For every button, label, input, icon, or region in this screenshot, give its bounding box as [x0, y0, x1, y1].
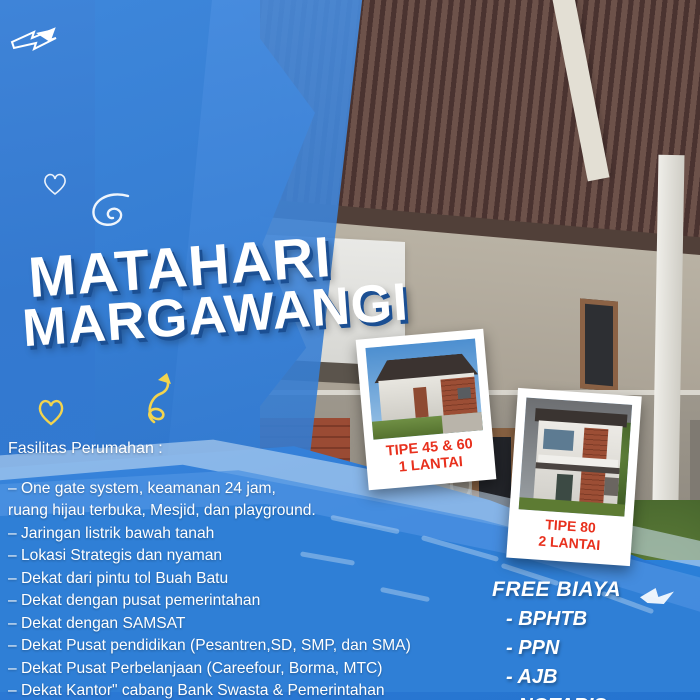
facility-item: – Dekat Pusat Perbelanjaan (Careefour, B… — [8, 658, 488, 680]
facilities-list: – One gate system, keamanan 24 jam, ruan… — [8, 478, 488, 700]
photo-caption: TIPE 45 & 60 1 LANTAI — [373, 430, 487, 485]
thumb-window-upper — [543, 429, 574, 451]
thumb-window — [457, 387, 471, 399]
heart-icon-yellow — [36, 398, 66, 426]
facility-item: – Dekat Kantor" cabang Bank Swasta & Pem… — [8, 680, 488, 700]
heart-icon-white — [42, 172, 68, 196]
free-costs-title: FREE BIAYA — [492, 578, 621, 602]
flyer-canvas: MATAHARI MARGAWANGI Fasilitas Perumahan … — [0, 0, 700, 700]
facility-item: – Jaringan listrik bawah tanah — [8, 523, 488, 545]
curly-arrow-icon — [140, 372, 180, 424]
photo-caption: TIPE 80 2 LANTAI — [515, 509, 624, 561]
flyer-title: MATAHARI MARGAWANGI — [22, 236, 462, 340]
upper-window — [580, 298, 618, 391]
thumb-door — [413, 387, 429, 418]
house-thumbnail-single-storey — [365, 338, 483, 439]
spiral-swirl-icon — [88, 192, 132, 230]
facility-item: – Dekat dengan pusat pemerintahan — [8, 590, 488, 612]
facility-item: – Dekat dengan SAMSAT — [8, 613, 488, 635]
facility-item: – Dekat Pusat pendidikan (Pesantren,SD, … — [8, 635, 488, 657]
house-thumbnail-two-storey — [519, 397, 633, 516]
facility-item: – Lokasi Strategis dan nyaman — [8, 545, 488, 567]
thumb-window-lower — [604, 477, 619, 496]
free-costs-section: FREE BIAYA - BPHTB - PPN - AJB - NOTARIS — [492, 578, 621, 700]
free-costs-list: - BPHTB - PPN - AJB - NOTARIS — [492, 608, 621, 700]
free-cost-item: - PPN — [492, 637, 621, 660]
arrow-right-icon — [10, 26, 58, 52]
photo-card-tipe-80: TIPE 80 2 LANTAI — [506, 388, 642, 566]
facility-item: – Dekat dari pintu tol Buah Batu — [8, 568, 488, 590]
free-cost-item: - AJB — [492, 666, 621, 689]
free-cost-item: - BPHTB — [492, 608, 621, 631]
free-cost-item: - NOTARIS — [492, 695, 621, 700]
thumb-path — [442, 412, 483, 433]
photo-card-tipe-45-60: TIPE 45 & 60 1 LANTAI — [356, 329, 497, 490]
